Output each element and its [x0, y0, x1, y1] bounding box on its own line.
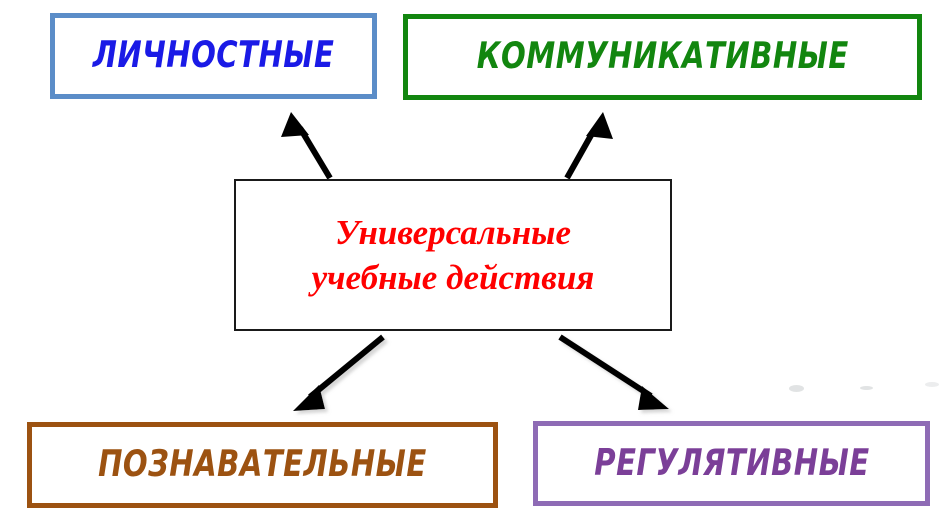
arrow-center-to-communicative [567, 112, 613, 178]
arrow-center-to-cognitive [293, 337, 383, 411]
node-center-label-line2: учебные действия [312, 255, 595, 301]
scan-artifact [789, 385, 804, 392]
node-regulative[interactable]: РЕГУЛЯТИВНЫЕ [533, 421, 930, 506]
node-cognitive[interactable]: ПОЗНАВАТЕЛЬНЫЕ [27, 422, 498, 508]
node-regulative-label: РЕГУЛЯТИВНЫЕ [594, 444, 869, 482]
node-personal[interactable]: ЛИЧНОСТНЫЕ [50, 13, 377, 99]
arrow-center-to-regulative [560, 337, 669, 410]
node-center-label-line1: Универсальные [335, 210, 571, 256]
node-communicative-label: КОММУНИКАТИВНЫЕ [477, 38, 849, 76]
scan-artifact [925, 382, 939, 387]
node-personal-label: ЛИЧНОСТНЫЕ [93, 37, 335, 75]
node-communicative[interactable]: КОММУНИКАТИВНЫЕ [403, 14, 922, 100]
scan-artifact [860, 386, 873, 390]
node-cognitive-label: ПОЗНАВАТЕЛЬНЫЕ [98, 446, 427, 484]
diagram-canvas: ЛИЧНОСТНЫЕ КОММУНИКАТИВНЫЕ Универсальные… [0, 0, 943, 530]
node-center[interactable]: Универсальные учебные действия [234, 179, 672, 331]
arrow-center-to-personal [281, 112, 330, 178]
